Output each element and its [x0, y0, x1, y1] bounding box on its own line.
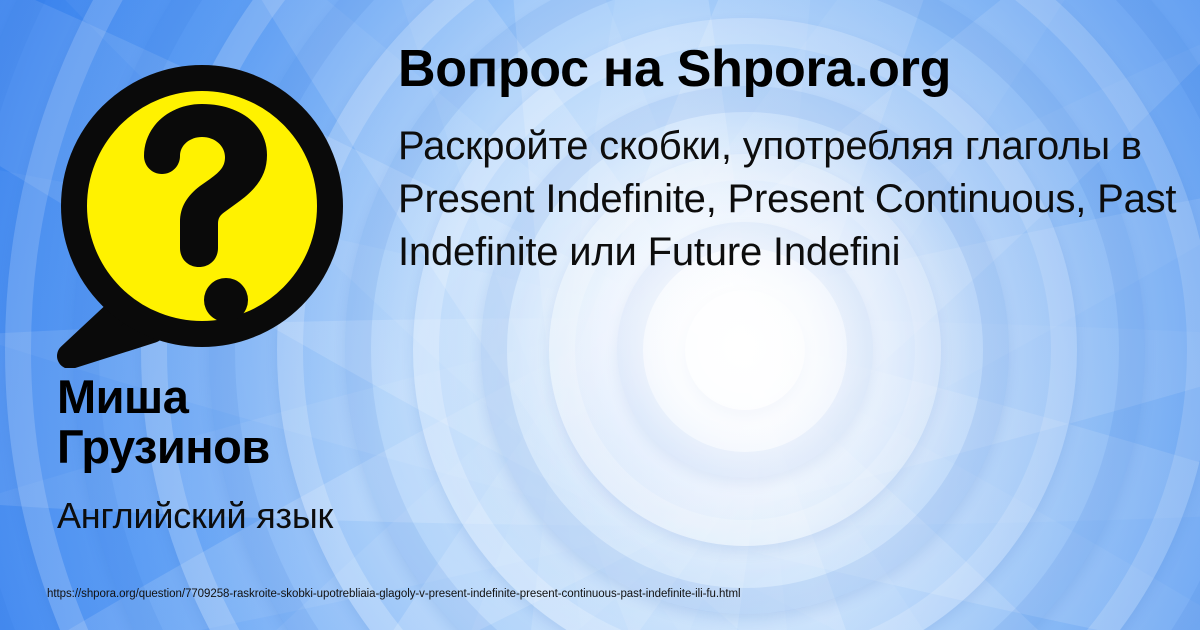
card-content: Вопрос на Shpora.org Раскройте скобки, у…: [0, 0, 1200, 630]
shpora-question-social-card: Вопрос на Shpora.org Раскройте скобки, у…: [0, 0, 1200, 630]
question-column: Вопрос на Shpora.org Раскройте скобки, у…: [398, 42, 1188, 278]
subject-label: Английский язык: [57, 472, 387, 536]
page-title: Вопрос на Shpora.org: [398, 42, 1188, 96]
question-speech-bubble-icon: [56, 38, 356, 368]
question-body-text: Раскройте скобки, употребляя глаголы в P…: [398, 96, 1188, 278]
author-block: Миша Грузинов Английский язык: [57, 372, 387, 535]
source-url[interactable]: https://shpora.org/question/7709258-rask…: [47, 588, 741, 600]
author-name: Миша Грузинов: [57, 372, 387, 472]
